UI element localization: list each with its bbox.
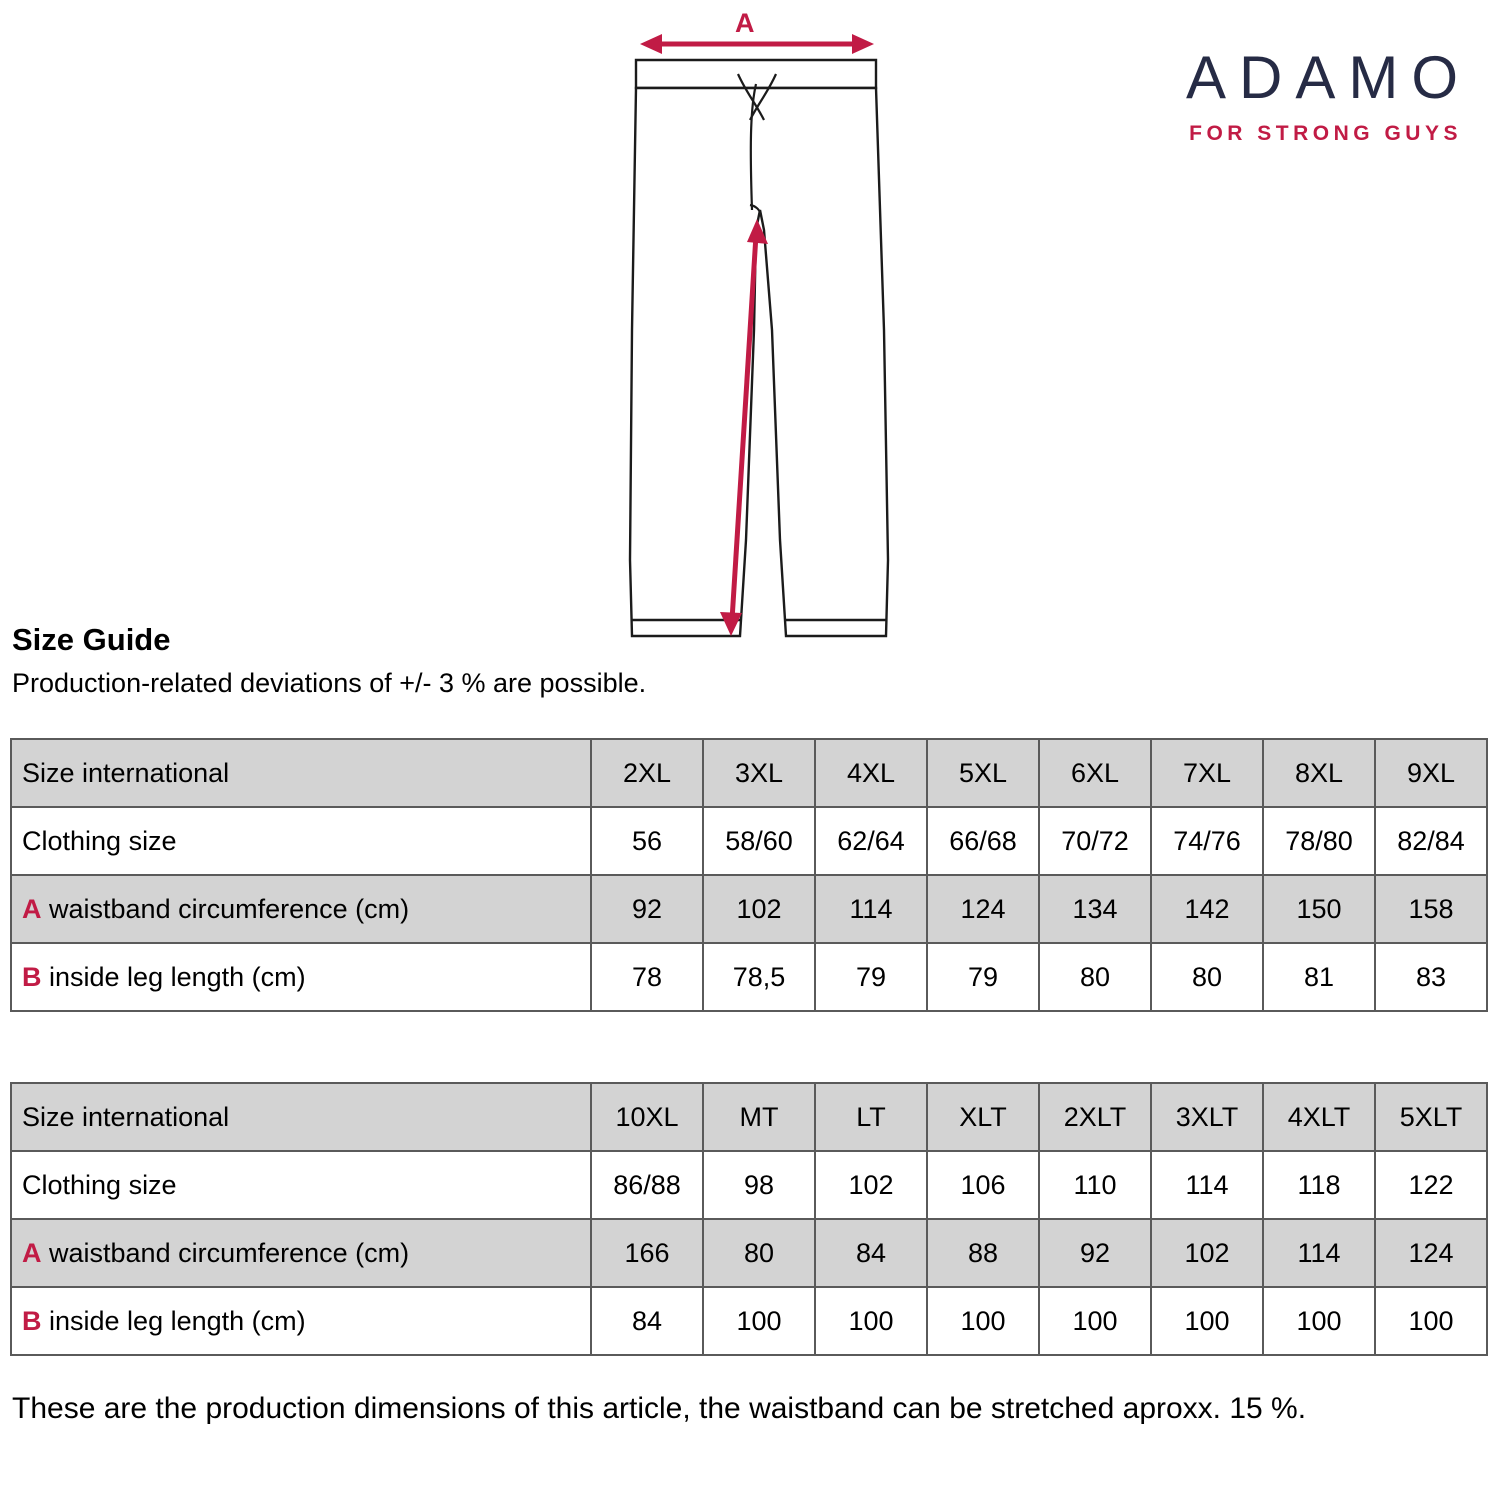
cell: 114 [1151, 1151, 1263, 1219]
cell: 100 [815, 1287, 927, 1355]
cell: 166 [591, 1219, 703, 1287]
cell: 100 [703, 1287, 815, 1355]
cell: 134 [1039, 875, 1151, 943]
brand-name: ADAMO [1186, 48, 1471, 108]
cell: 142 [1151, 875, 1263, 943]
cell: 8XL [1263, 739, 1375, 807]
cell: 118 [1263, 1151, 1375, 1219]
table-row: Clothing size 56 58/60 62/64 66/68 70/72… [11, 807, 1487, 875]
row-label-text: Clothing size [22, 1170, 177, 1200]
cell: 74/76 [1151, 807, 1263, 875]
cell: MT [703, 1083, 815, 1151]
cell: 124 [927, 875, 1039, 943]
row-label: A waistband circumference (cm) [11, 1219, 591, 1287]
cell: 62/64 [815, 807, 927, 875]
table-row: A waistband circumference (cm) 166 80 84… [11, 1219, 1487, 1287]
table-row: A waistband circumference (cm) 92 102 11… [11, 875, 1487, 943]
row-mark: A [22, 1238, 42, 1268]
cell: 102 [815, 1151, 927, 1219]
brand-tagline: FOR STRONG GUYS [1186, 122, 1462, 146]
cell: XLT [927, 1083, 1039, 1151]
row-mark: B [22, 1306, 42, 1336]
cell: 102 [1151, 1219, 1263, 1287]
cell: 78/80 [1263, 807, 1375, 875]
cell: 5XLT [1375, 1083, 1487, 1151]
cell: 81 [1263, 943, 1375, 1011]
row-label-text: waistband circumference (cm) [42, 894, 410, 924]
row-label-text: Size international [22, 758, 229, 788]
row-mark: B [22, 962, 42, 992]
cell: 84 [815, 1219, 927, 1287]
cell: 5XL [927, 739, 1039, 807]
cell: 4XLT [1263, 1083, 1375, 1151]
cell: 80 [1039, 943, 1151, 1011]
cell: 100 [1375, 1287, 1487, 1355]
cell: 2XLT [1039, 1083, 1151, 1151]
table-row: Size international 10XL MT LT XLT 2XLT 3… [11, 1083, 1487, 1151]
row-label-text: waistband circumference (cm) [42, 1238, 410, 1268]
cell: 79 [815, 943, 927, 1011]
cell: 7XL [1151, 739, 1263, 807]
cell: 79 [927, 943, 1039, 1011]
cell: 150 [1263, 875, 1375, 943]
size-table-standard: Size international 2XL 3XL 4XL 5XL 6XL 7… [10, 738, 1488, 1012]
footnote-text: These are the production dimensions of t… [12, 1390, 1482, 1428]
cell: 110 [1039, 1151, 1151, 1219]
row-label: Clothing size [11, 807, 591, 875]
cell: 78,5 [703, 943, 815, 1011]
size-table-tall: Size international 10XL MT LT XLT 2XLT 3… [10, 1082, 1488, 1356]
cell: 86/88 [591, 1151, 703, 1219]
page-subtitle: Production-related deviations of +/- 3 %… [12, 668, 646, 699]
row-label: B inside leg length (cm) [11, 1287, 591, 1355]
cell: 92 [591, 875, 703, 943]
row-label-text: Size international [22, 1102, 229, 1132]
cell: 70/72 [1039, 807, 1151, 875]
page-title: Size Guide [12, 622, 170, 658]
cell: 6XL [1039, 739, 1151, 807]
row-label: Size international [11, 739, 591, 807]
row-label-text: inside leg length (cm) [42, 1306, 306, 1336]
cell: 102 [703, 875, 815, 943]
cell: 100 [1039, 1287, 1151, 1355]
cell: 56 [591, 807, 703, 875]
table-row: B inside leg length (cm) 84 100 100 100 … [11, 1287, 1487, 1355]
table-row: Size international 2XL 3XL 4XL 5XL 6XL 7… [11, 739, 1487, 807]
cell: 3XLT [1151, 1083, 1263, 1151]
cell: 100 [927, 1287, 1039, 1355]
cell: 114 [815, 875, 927, 943]
cell: 9XL [1375, 739, 1487, 807]
row-mark: A [22, 894, 42, 924]
cell: 124 [1375, 1219, 1487, 1287]
cell: 98 [703, 1151, 815, 1219]
table-row: B inside leg length (cm) 78 78,5 79 79 8… [11, 943, 1487, 1011]
cell: 80 [1151, 943, 1263, 1011]
brand-logo: ADAMO FOR STRONG GUYS [1186, 48, 1458, 146]
size-guide-page: ADAMO FOR STRONG GUYS A B [0, 0, 1500, 1500]
cell: LT [815, 1083, 927, 1151]
cell: 10XL [591, 1083, 703, 1151]
cell: 84 [591, 1287, 703, 1355]
cell: 88 [927, 1219, 1039, 1287]
cell: 158 [1375, 875, 1487, 943]
cell: 4XL [815, 739, 927, 807]
cell: 100 [1263, 1287, 1375, 1355]
cell: 80 [703, 1219, 815, 1287]
cell: 82/84 [1375, 807, 1487, 875]
row-label: A waistband circumference (cm) [11, 875, 591, 943]
cell: 2XL [591, 739, 703, 807]
cell: 114 [1263, 1219, 1375, 1287]
table-row: Clothing size 86/88 98 102 106 110 114 1… [11, 1151, 1487, 1219]
row-label: Size international [11, 1083, 591, 1151]
row-label: B inside leg length (cm) [11, 943, 591, 1011]
cell: 100 [1151, 1287, 1263, 1355]
cell: 106 [927, 1151, 1039, 1219]
row-label-text: inside leg length (cm) [42, 962, 306, 992]
cell: 92 [1039, 1219, 1151, 1287]
row-label-text: Clothing size [22, 826, 177, 856]
cell: 58/60 [703, 807, 815, 875]
cell: 122 [1375, 1151, 1487, 1219]
cell: 3XL [703, 739, 815, 807]
cell: 66/68 [927, 807, 1039, 875]
cell: 78 [591, 943, 703, 1011]
row-label: Clothing size [11, 1151, 591, 1219]
pants-diagram-icon [600, 0, 920, 660]
cell: 83 [1375, 943, 1487, 1011]
